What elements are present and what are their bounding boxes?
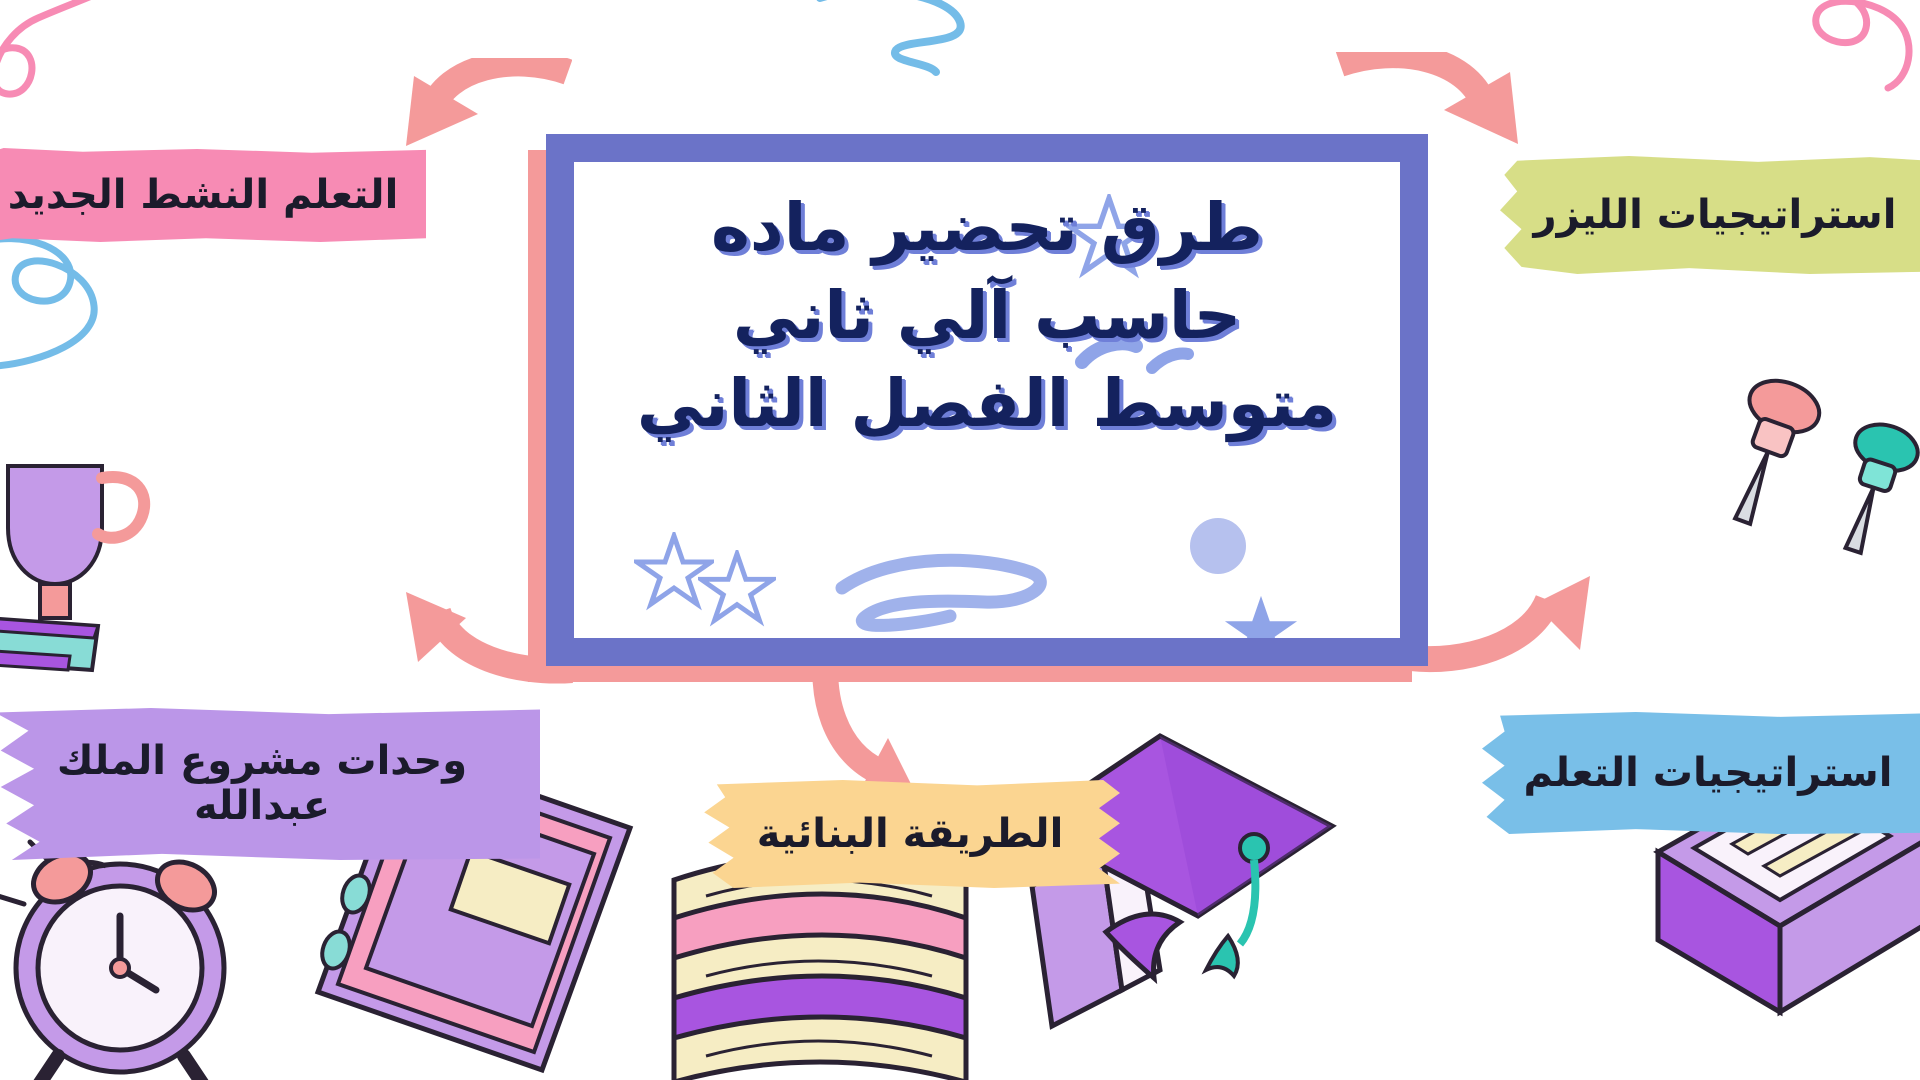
squiggle-pink-top-right-icon (1760, 0, 1920, 140)
card-inner: طرق تحضير ماده حاسب آلي ثاني متوسط الفصل… (574, 162, 1400, 638)
tape-label-text: وحدات مشروع الملك عبدالله (57, 739, 467, 829)
poster-canvas: طرق تحضير ماده حاسب آلي ثاني متوسط الفصل… (0, 0, 1920, 1080)
page-title: طرق تحضير ماده حاسب آلي ثاني متوسط الفصل… (574, 184, 1400, 447)
tape-label-king-abdullah-project-units[interactable]: وحدات مشروع الملك عبدالله (0, 708, 540, 860)
tape-label-text: الطريقة البنائية (757, 812, 1064, 857)
tape-label-laser-strategies[interactable]: استراتيجيات الليزر (1500, 156, 1920, 274)
tape-label-learning-strategies[interactable]: استراتيجيات التعلم (1482, 712, 1920, 834)
tape-label-constructivist-method[interactable]: الطريقة البنائية (700, 780, 1120, 888)
star-accent-right-icon (1222, 592, 1300, 638)
title-card: طرق تحضير ماده حاسب آلي ثاني متوسط الفصل… (528, 134, 1428, 682)
tape-label-text: استراتيجيات التعلم (1524, 751, 1893, 796)
circle-accent-icon (1186, 514, 1250, 578)
squiggle-pink-top-left-icon (0, 0, 162, 122)
squiggle-blue-top-center-icon (810, 0, 990, 98)
star-accent-left-icon (634, 532, 714, 612)
trophy-icon (0, 460, 168, 680)
brush-stroke-accent-icon (824, 522, 1064, 638)
arrow-bottom-right-icon (1400, 556, 1600, 676)
tape-label-active-learning[interactable]: التعلم النشط الجديد (0, 148, 426, 242)
squiggle-blue-left-icon (0, 230, 144, 390)
tape-label-text: استراتيجيات الليزر (1534, 193, 1897, 238)
tape-label-text: التعلم النشط الجديد (8, 173, 399, 218)
push-pin-icon (1700, 376, 1920, 586)
star-accent-left2-icon (698, 550, 776, 628)
